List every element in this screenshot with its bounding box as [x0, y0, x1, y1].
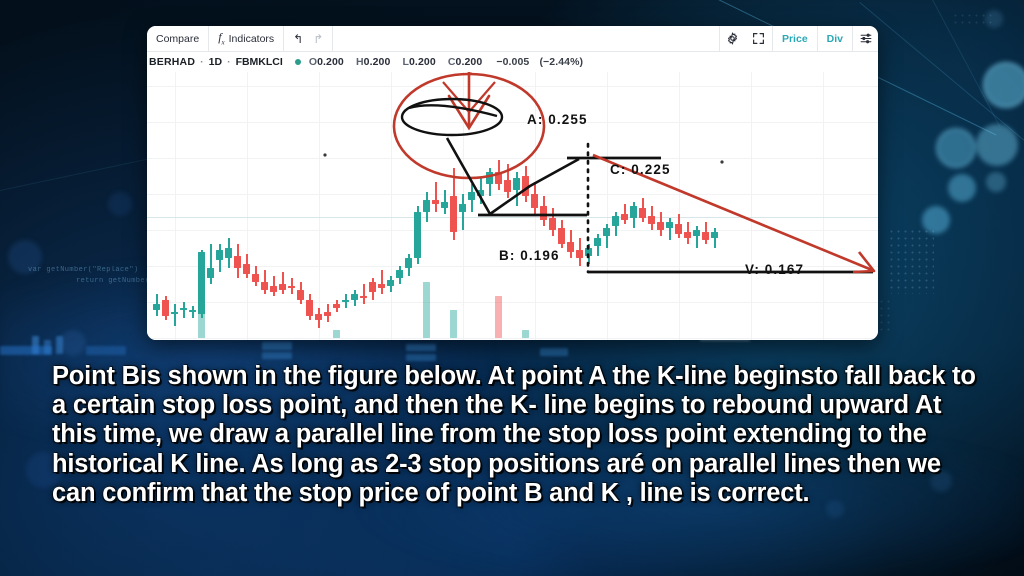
candle-body: [333, 304, 340, 308]
candle-body: [468, 192, 475, 200]
open-label: O: [309, 56, 317, 68]
candle-wick: [714, 228, 715, 248]
ohlc-values: O0.200 H0.200 L0.200 C0.200 −0.005 (−2.4…: [309, 56, 583, 68]
fullscreen-icon[interactable]: [746, 26, 772, 51]
candle-body: [207, 268, 214, 278]
compare-button[interactable]: Compare: [147, 26, 209, 51]
grid-line-vertical: [751, 72, 752, 340]
bokeh-circle: [108, 192, 132, 216]
background-bar: [406, 344, 436, 351]
candle-body: [360, 296, 367, 298]
volume-bar: [333, 330, 340, 338]
undo-icon[interactable]: ↰: [293, 32, 303, 46]
bokeh-circle: [986, 172, 1006, 192]
candle-body: [396, 270, 403, 278]
grid-line-horizontal: [147, 158, 878, 159]
candle-body: [261, 282, 268, 290]
candle-body: [549, 218, 556, 230]
interval-label[interactable]: 1D: [209, 56, 222, 68]
candle-body: [702, 232, 709, 240]
fx-icon: fx: [218, 30, 224, 46]
high-value: 0.200: [364, 56, 391, 68]
grid-line-horizontal: [147, 122, 878, 123]
volume-bar: [423, 282, 430, 338]
background-bar: [56, 336, 63, 354]
candle-body: [693, 230, 700, 236]
candle-body: [270, 286, 277, 292]
toolbar-right-group: Price Div: [720, 26, 878, 51]
annotation-label-a: A: 0.255: [527, 112, 588, 127]
grid-line-vertical: [175, 72, 176, 340]
black-ellipse-annotation: [402, 99, 502, 135]
change-value: −0.005: [496, 56, 529, 68]
grid-line-horizontal: [147, 230, 878, 231]
candle-body: [639, 208, 646, 218]
background-bar: [540, 348, 568, 356]
background-bar: [262, 352, 292, 359]
grid-line-horizontal: [147, 86, 878, 87]
candle-body: [315, 314, 322, 320]
low-value: 0.200: [409, 56, 436, 68]
series-color-dot: [295, 59, 301, 65]
candle-body: [531, 194, 538, 208]
tradingview-chart-window: Compare fx Indicators ↰ ↱: [147, 26, 878, 340]
candle-body: [153, 304, 160, 310]
screenshot-root: var getNumber("Replace") return getNumbe…: [0, 0, 1024, 576]
candle-body: [405, 258, 412, 268]
annotation-label-v: V: 0.167: [745, 262, 804, 277]
candle-body: [252, 274, 259, 282]
candle-wick: [192, 306, 193, 318]
indicators-label: Indicators: [229, 33, 275, 45]
change-percent: (−2.44%): [539, 56, 583, 68]
candle-body: [522, 176, 529, 196]
exchange-label[interactable]: FBMKLCI: [236, 56, 283, 68]
dot-grid: [952, 12, 992, 26]
background-bar: [406, 354, 436, 361]
candle-body: [189, 310, 196, 312]
candle-body: [369, 282, 376, 292]
candle-wick: [462, 194, 463, 230]
background-bar: [262, 342, 292, 350]
high-label: H: [356, 56, 364, 68]
price-reference-line: [147, 217, 878, 218]
candle-body: [585, 248, 592, 256]
candle-body: [666, 222, 673, 228]
red-arrowhead-annotation: [449, 96, 489, 128]
candle-body: [495, 172, 502, 184]
indicators-button[interactable]: fx Indicators: [209, 26, 284, 51]
bokeh-circle: [983, 62, 1024, 108]
symbol-separator: ·: [200, 56, 204, 68]
volume-bar: [450, 310, 457, 338]
open-value: 0.200: [317, 56, 344, 68]
annotation-label-b: B: 0.196: [499, 248, 560, 263]
candle-body: [603, 228, 610, 236]
symbol-info-bar: BERHAD · 1D · FBMKLCI O0.200 H0.200 L0.2…: [147, 52, 878, 72]
candle-body: [576, 250, 583, 258]
candle-body: [297, 290, 304, 300]
red-circle-annotation: [394, 74, 544, 178]
candle-body: [513, 178, 520, 190]
background-code-line: var getNumber("Replace"): [28, 266, 138, 274]
candle-body: [171, 312, 178, 314]
dot-grid: [878, 298, 892, 334]
candle-body: [279, 284, 286, 290]
grid-line-horizontal: [147, 338, 878, 339]
background-bar: [0, 346, 52, 355]
undo-redo-group[interactable]: ↰ ↱: [284, 26, 333, 51]
toolbar-spacer: [333, 26, 720, 51]
candle-body: [567, 242, 574, 252]
candle-body: [423, 200, 430, 212]
bokeh-circle: [976, 124, 1018, 166]
close-value: 0.200: [456, 56, 483, 68]
gear-icon[interactable]: [720, 26, 746, 51]
candle-body: [612, 216, 619, 226]
candle-body: [387, 280, 394, 286]
candle-body: [441, 202, 448, 208]
candle-wick: [363, 284, 364, 304]
candle-body: [342, 300, 349, 302]
volume-bar: [198, 286, 205, 338]
dot-grid: [888, 228, 934, 294]
candle-body: [459, 204, 466, 212]
candle-body: [594, 238, 601, 246]
grid-line-vertical: [607, 72, 608, 340]
annotation-overlay: [147, 72, 878, 340]
candle-wick: [435, 182, 436, 212]
candle-body: [432, 200, 439, 204]
grid-line-horizontal: [147, 302, 878, 303]
sliders-icon[interactable]: [852, 26, 878, 51]
grid-line-vertical: [319, 72, 320, 340]
candle-wick: [381, 270, 382, 294]
background-bar: [86, 346, 126, 355]
candle-wick: [183, 302, 184, 318]
bokeh-circle: [60, 330, 86, 356]
grid-line-vertical: [391, 72, 392, 340]
candle-body: [351, 294, 358, 300]
chart-plot-area[interactable]: A: 0.255 C: 0.225 B: 0.196 V: 0.167: [147, 72, 878, 340]
candle-body: [558, 228, 565, 244]
grid-line-vertical: [679, 72, 680, 340]
stray-dot-2: [720, 160, 723, 163]
compare-label: Compare: [156, 33, 199, 45]
grid-line-vertical: [823, 72, 824, 340]
candle-body: [621, 214, 628, 220]
candle-body: [306, 300, 313, 316]
caption-text: Point Bis shown in the figure below. At …: [52, 362, 982, 508]
candle-body: [234, 256, 241, 268]
grid-line-horizontal: [147, 194, 878, 195]
background-code-line: return getNumber: [76, 277, 150, 285]
candle-body: [243, 264, 250, 274]
candle-body: [657, 222, 664, 230]
volume-bar: [495, 296, 502, 338]
candle-body: [378, 284, 385, 288]
candle-wick: [210, 244, 211, 284]
candle-wick: [174, 304, 175, 326]
volume-bar: [522, 330, 529, 338]
symbol-name[interactable]: BERHAD: [149, 56, 195, 68]
candle-body: [324, 312, 331, 316]
candle-body: [630, 206, 637, 218]
price-button[interactable]: Price: [772, 26, 817, 51]
close-label: C: [448, 56, 456, 68]
candle-body: [477, 190, 484, 196]
candle-body: [675, 224, 682, 234]
toolbar-left-group: Compare fx Indicators ↰ ↱: [147, 26, 333, 51]
black-ellipse-tail: [409, 105, 497, 116]
candle-body: [450, 196, 457, 232]
chart-toolbar: Compare fx Indicators ↰ ↱: [147, 26, 878, 52]
div-button[interactable]: Div: [817, 26, 852, 51]
candle-wick: [282, 272, 283, 294]
candle-body: [486, 172, 493, 184]
candle-body: [216, 250, 223, 260]
bokeh-circle: [948, 174, 976, 202]
bokeh-circle: [936, 128, 976, 168]
annotation-label-c: C: 0.225: [610, 162, 671, 177]
candle-body: [225, 248, 232, 258]
redo-icon[interactable]: ↱: [313, 32, 323, 46]
candle-body: [504, 180, 511, 192]
symbol-separator-2: ·: [227, 56, 231, 68]
candle-body: [180, 308, 187, 310]
grid-line-vertical: [247, 72, 248, 340]
candle-body: [540, 206, 547, 220]
candle-body: [288, 286, 295, 288]
candle-body: [684, 232, 691, 238]
stray-dot-1: [323, 153, 326, 156]
candle-body: [711, 232, 718, 238]
red-trend-arrowhead: [853, 252, 874, 272]
candle-body: [162, 300, 169, 316]
candle-body: [414, 212, 421, 258]
candle-body: [648, 216, 655, 224]
